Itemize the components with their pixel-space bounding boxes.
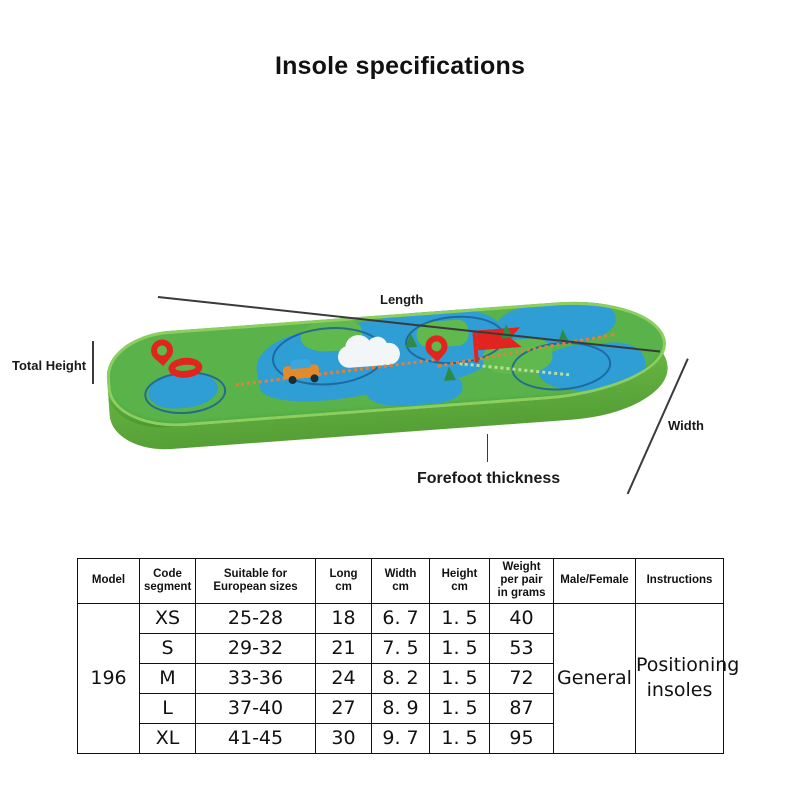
cell-width-cm: 8. 9: [372, 693, 430, 723]
total-height-measure-line: [92, 341, 94, 384]
insole-diagram: [0, 240, 800, 530]
cell-instructions: Positioning insoles: [636, 603, 724, 753]
cell-height-cm: 1. 5: [430, 603, 490, 633]
cell-height-cm: 1. 5: [430, 633, 490, 663]
cell-height-cm: 1. 5: [430, 693, 490, 723]
column-header-euro-sizes: Suitable for European sizes: [196, 559, 316, 604]
width-label: Width: [668, 418, 704, 433]
cell-weight: 53: [490, 633, 554, 663]
cell-width-cm: 6. 7: [372, 603, 430, 633]
cell-euro-sizes: 29-32: [196, 633, 316, 663]
column-header-long-cm: Long cm: [316, 559, 372, 604]
cell-height-cm: 1. 5: [430, 663, 490, 693]
car-icon: [290, 359, 311, 369]
cell-male-female: General: [554, 603, 636, 753]
column-header-code-segment: Code segment: [140, 559, 196, 604]
cell-width-cm: 7. 5: [372, 633, 430, 663]
cell-euro-sizes: 37-40: [196, 693, 316, 723]
cell-code-segment: XL: [140, 723, 196, 753]
column-header-width-cm: Width cm: [372, 559, 430, 604]
cell-width-cm: 9. 7: [372, 723, 430, 753]
cell-euro-sizes: 41-45: [196, 723, 316, 753]
table-header-row: Model Code segment Suitable for European…: [78, 559, 724, 604]
cell-model: 196: [78, 603, 140, 753]
total-height-label: Total Height: [12, 358, 86, 373]
column-header-weight: Weight per pair in grams: [490, 559, 554, 604]
cell-weight: 87: [490, 693, 554, 723]
forefoot-thickness-leader-line: [487, 434, 488, 462]
cell-euro-sizes: 25-28: [196, 603, 316, 633]
cell-height-cm: 1. 5: [430, 723, 490, 753]
cell-weight: 40: [490, 603, 554, 633]
tree-icon: [500, 324, 513, 339]
cell-weight: 95: [490, 723, 554, 753]
length-label: Length: [380, 292, 423, 307]
column-header-model: Model: [78, 559, 140, 604]
forefoot-thickness-label: Forefoot thickness: [417, 470, 560, 488]
cell-long-cm: 21: [316, 633, 372, 663]
page-title: Insole specifications: [0, 52, 800, 81]
cell-long-cm: 30: [316, 723, 372, 753]
tree-icon: [443, 366, 456, 381]
cell-long-cm: 18: [316, 603, 372, 633]
cell-weight: 72: [490, 663, 554, 693]
cell-long-cm: 24: [316, 663, 372, 693]
cell-width-cm: 8. 2: [372, 663, 430, 693]
cell-code-segment: XS: [140, 603, 196, 633]
cell-code-segment: S: [140, 633, 196, 663]
table-row: 196 XS 25-28 18 6. 7 1. 5 40 General Pos…: [78, 603, 724, 633]
column-header-instructions: Instructions: [636, 559, 724, 604]
cell-code-segment: M: [140, 663, 196, 693]
insole-spec-table: Model Code segment Suitable for European…: [77, 558, 724, 754]
column-header-height-cm: Height cm: [430, 559, 490, 604]
column-header-male-female: Male/Female: [554, 559, 636, 604]
cell-code-segment: L: [140, 693, 196, 723]
tree-icon: [404, 333, 417, 348]
cell-long-cm: 27: [316, 693, 372, 723]
cell-euro-sizes: 33-36: [196, 663, 316, 693]
